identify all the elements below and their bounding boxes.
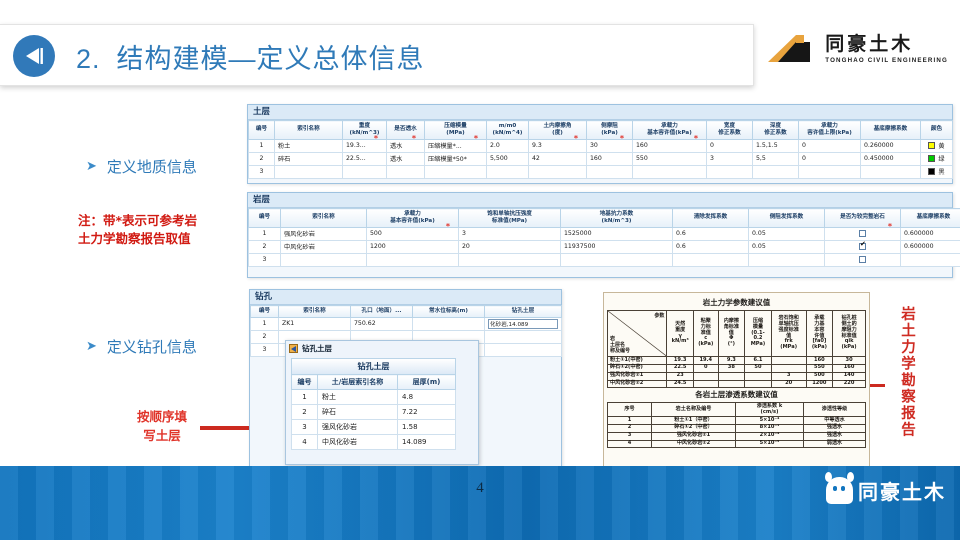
- table-row[interactable]: 1强风化砂岩500315250000.60.050.600000青: [249, 227, 960, 240]
- report-table1-body: 粉土①1(中密)19.319.49.36.116030碎石①2(中密)22.50…: [608, 357, 866, 388]
- report-soil-name: 强风化砂岩②1: [608, 372, 667, 380]
- column-header[interactable]: 钻孔土层: [485, 306, 562, 318]
- report-value: 6.1: [745, 357, 772, 365]
- table-cell[interactable]: 0.600000: [901, 227, 960, 240]
- table-cell[interactable]: [587, 165, 633, 178]
- table-cell[interactable]: 3: [292, 420, 318, 435]
- report-col-bearing-capacity: 承载力基本容许值[fa0](kPa): [806, 311, 833, 357]
- report-value: 弱透水: [804, 440, 866, 448]
- table-cell[interactable]: 粉土: [318, 390, 398, 405]
- rock-table-body[interactable]: 1强风化砂岩500315250000.60.050.600000青2中风化砂岩1…: [249, 227, 960, 266]
- table-cell[interactable]: 750.62: [351, 317, 413, 330]
- checkbox-cell[interactable]: [825, 240, 901, 253]
- table-cell[interactable]: 碎石: [318, 405, 398, 420]
- checkbox-cell[interactable]: [825, 253, 901, 266]
- report-value: 550: [806, 364, 833, 372]
- table-cell[interactable]: 550: [633, 152, 707, 165]
- report-row: 4中风化砂岩②25×10⁻⁵弱透水: [608, 440, 866, 448]
- back-triangle-icon[interactable]: [13, 35, 55, 77]
- soil-layer-table[interactable]: 编号索引名称重度(kN/m^3)*是否透水*压缩模量(MPa)*m/m0(kN/…: [248, 120, 953, 179]
- table-cell[interactable]: 1: [249, 139, 275, 152]
- column-header: 岩土名称及编号: [652, 403, 736, 417]
- table-row[interactable]: 2中风化砂岩120020119375000.60.050.600000蓝: [249, 240, 960, 253]
- color-label: 黑: [938, 169, 944, 176]
- annotation-fill-order: 按顺序填 写土层: [137, 408, 187, 446]
- table-cell[interactable]: [425, 165, 487, 178]
- table-cell[interactable]: 2: [292, 405, 318, 420]
- report-value: 22.5: [667, 364, 694, 372]
- brand-logo: 同豪土木 TONGHAO CIVIL ENGINEERING: [766, 32, 948, 68]
- color-cell[interactable]: 黑: [921, 165, 953, 178]
- column-header[interactable]: 宽度修正系数: [707, 121, 753, 140]
- tonghao-logo-icon: [766, 32, 818, 68]
- table-cell[interactable]: 碎石: [275, 152, 343, 165]
- required-star-icon: *: [446, 223, 450, 231]
- report-table1-corner-cell: 参数 岩土层名称及编号: [608, 311, 667, 357]
- brand-words: 同豪土木 TONGHAO CIVIL ENGINEERING: [825, 35, 948, 64]
- table-cell[interactable]: 2.0: [487, 139, 529, 152]
- report-value: 9.3: [718, 357, 745, 365]
- slide-footer: 4 同豪土木: [0, 466, 960, 540]
- column-header: 渗透性等级: [804, 403, 866, 417]
- report-value: 38: [718, 364, 745, 372]
- column-header[interactable]: 编号: [249, 209, 281, 228]
- report-value: 20: [771, 380, 806, 388]
- geotech-report-scan: 岩土力学参数建议值 参数 岩土层名称及编号 天然重度γkN/m³ 粘聚力标准值c…: [603, 292, 870, 476]
- note-line-1: 注：带*表示可参考岩: [78, 212, 197, 230]
- column-header: 渗透系数 k(cm/s): [736, 403, 804, 417]
- annotation-fill-order-line2: 写土层: [137, 427, 187, 446]
- note-star-meaning: 注：带*表示可参考岩 土力学勘察报告取值: [78, 212, 197, 248]
- footer-brand: 同豪土木: [826, 476, 946, 505]
- borehole-layer-table[interactable]: 钻孔土层 编号土/岩层索引名称层厚(m) 1粉土4.82碎石7.223强风化砂岩…: [291, 358, 456, 450]
- table-cell[interactable]: [673, 253, 749, 266]
- report-table2-body: 1粉土①1（中密）5×10⁻⁴中等透水2碎石①2（中密）8×10⁻¹强透水3强风…: [608, 417, 866, 448]
- column-header: 序号: [608, 403, 652, 417]
- report-value: 强风化砂岩②1: [652, 432, 736, 440]
- required-star-icon: *: [574, 135, 578, 143]
- intact-rock-checkbox[interactable]: [859, 230, 866, 237]
- wechat-ghost-icon: [826, 477, 853, 504]
- report-value: 160: [806, 357, 833, 365]
- table-cell[interactable]: [459, 253, 561, 266]
- soil-panel-title: 土层: [248, 105, 952, 120]
- column-header[interactable]: 编号: [251, 306, 279, 318]
- report-value: 160: [833, 364, 866, 372]
- report-corner-bottom-label: 岩土层名称及编号: [610, 336, 630, 354]
- report-value: 3: [608, 432, 652, 440]
- column-header[interactable]: 承载力基本容许值(kPa)*: [367, 209, 459, 228]
- report-col-friction-angle: 内摩擦角标准值Φ(°): [718, 311, 745, 357]
- borehole-table-header-row: 编号索引名称孔口（地面）...常水位标高(m)钻孔土层: [251, 306, 562, 318]
- table-cell[interactable]: 160: [587, 152, 633, 165]
- soil-table-body[interactable]: 1粉土19.3...透水压缩模量*...2.09.33016001.5,1.50…: [249, 139, 953, 178]
- column-header[interactable]: 承载力基本容许值(kPa)*: [633, 121, 707, 140]
- column-header[interactable]: 地基抗力系数(kN/m^3): [561, 209, 673, 228]
- table-cell[interactable]: [861, 165, 921, 178]
- column-header[interactable]: 索引名称: [281, 209, 367, 228]
- report-table2-header-row: 序号岩土名称及编号渗透系数 k(cm/s)渗透性等级: [608, 403, 866, 417]
- color-cell[interactable]: 黄: [921, 139, 953, 152]
- report-value: 19.4: [693, 357, 718, 365]
- report-col-unit-weight: 天然重度γkN/m³: [667, 311, 694, 357]
- table-cell[interactable]: 19.3...: [343, 139, 387, 152]
- report-col-cohesion: 粘聚力标准值c(kPa): [693, 311, 718, 357]
- column-header[interactable]: 承载力容许值上限(kPa): [799, 121, 861, 140]
- report-value: 3: [771, 372, 806, 380]
- table-cell[interactable]: 1.58: [398, 420, 456, 435]
- table-cell[interactable]: 强风化砂岩: [318, 420, 398, 435]
- table-cell[interactable]: 14.089: [398, 435, 456, 450]
- table-cell[interactable]: 500: [367, 227, 459, 240]
- column-header[interactable]: 孔口（地面）...: [351, 306, 413, 318]
- report-value: 0: [693, 364, 718, 372]
- table-cell[interactable]: [799, 165, 861, 178]
- borehole-layer-dialog[interactable]: 钻孔土层 钻孔土层 编号土/岩层索引名称层厚(m) 1粉土4.82碎石7.223…: [285, 340, 479, 465]
- report-soil-name: 中风化砂岩②2: [608, 380, 667, 388]
- report-table1-header-row: 参数 岩土层名称及编号 天然重度γkN/m³ 粘聚力标准值c(kPa) 内摩擦角…: [608, 311, 866, 357]
- table-cell[interactable]: 1.5,1.5: [753, 139, 799, 152]
- column-header[interactable]: 饱和单轴抗压强度标准值(MPa): [459, 209, 561, 228]
- required-star-icon: *: [374, 135, 378, 143]
- table-cell[interactable]: [561, 253, 673, 266]
- table-cell[interactable]: [749, 253, 825, 266]
- table-cell[interactable]: 1: [251, 317, 279, 330]
- table-cell[interactable]: 11937500: [561, 240, 673, 253]
- rock-panel-title: 岩层: [248, 193, 952, 208]
- table-cell[interactable]: [633, 165, 707, 178]
- table-cell[interactable]: 0.05: [749, 240, 825, 253]
- annotation-geo-report-label: 岩土力学勘察报告: [898, 306, 914, 438]
- note-line-2: 土力学勘察报告取值: [78, 230, 197, 248]
- table-cell[interactable]: 0.05: [749, 227, 825, 240]
- table-cell[interactable]: 42: [529, 152, 587, 165]
- column-header[interactable]: 基底摩擦系数: [861, 121, 921, 140]
- report-value: [771, 357, 806, 365]
- color-cell[interactable]: 绿: [921, 152, 953, 165]
- report-value: 2×10⁻⁴: [736, 432, 804, 440]
- table-cell[interactable]: 0.6: [673, 227, 749, 240]
- borehole-layer-header-row: 编号土/岩层索引名称层厚(m): [292, 375, 456, 390]
- report-value: [718, 380, 745, 388]
- color-swatch: [928, 142, 935, 149]
- column-header[interactable]: 压缩模量(MPa)*: [425, 121, 487, 140]
- bullet-define-geology: ➤ 定义地质信息: [86, 156, 197, 177]
- intact-rock-checkbox[interactable]: [859, 256, 866, 263]
- table-cell[interactable]: [387, 165, 425, 178]
- borehole-layer-table-wrap: 钻孔土层 编号土/岩层索引名称层厚(m) 1粉土4.82碎石7.223强风化砂岩…: [291, 358, 448, 450]
- rock-table-header-row: 编号索引名称承载力基本容许值(kPa)*饱和单轴抗压强度标准值(MPa)地基抗力…: [249, 209, 960, 228]
- column-header[interactable]: 基底摩擦系数: [901, 209, 960, 228]
- column-header[interactable]: 土/岩层索引名称: [318, 375, 398, 390]
- soil-table-header-row: 编号索引名称重度(kN/m^3)*是否透水*压缩模量(MPa)*m/m0(kN/…: [249, 121, 953, 140]
- report-value: [693, 380, 718, 388]
- column-header[interactable]: m/m0(kN/m^4): [487, 121, 529, 140]
- table-cell[interactable]: 2: [249, 240, 281, 253]
- table-cell[interactable]: 4: [292, 435, 318, 450]
- table-cell[interactable]: 3: [249, 253, 281, 266]
- page-number: 4: [0, 480, 960, 497]
- table-cell[interactable]: 3: [459, 227, 561, 240]
- column-header[interactable]: 土内摩擦角(度)*: [529, 121, 587, 140]
- color-swatch: [928, 168, 935, 175]
- report-col-compression-modulus: 压缩模量(0.1-0.2MPa): [745, 311, 772, 357]
- column-header[interactable]: 常水位标高(m): [413, 306, 485, 318]
- table-cell[interactable]: 1200: [367, 240, 459, 253]
- report-row: 中风化砂岩②224.5201200220: [608, 380, 866, 388]
- report-corner-top-label: 参数: [654, 314, 664, 320]
- soil-layer-panel[interactable]: 土层 编号索引名称重度(kN/m^3)*是否透水*压缩模量(MPa)*m/m0(…: [247, 104, 953, 184]
- report-col-pile-friction: 钻孔桩侧土的摩阻力标准值qik(kPa): [833, 311, 866, 357]
- column-header[interactable]: 是否透水*: [387, 121, 425, 140]
- table-row[interactable]: 1粉土19.3...透水压缩模量*...2.09.33016001.5,1.50…: [249, 139, 953, 152]
- report-value: 30: [833, 357, 866, 365]
- borehole-layer-table-caption: 钻孔土层: [291, 358, 456, 374]
- ghost-ear-right: [847, 472, 854, 482]
- table-row[interactable]: 3黑: [249, 165, 953, 178]
- table-cell[interactable]: 0: [707, 139, 753, 152]
- column-header[interactable]: 侧阻发挥系数: [749, 209, 825, 228]
- bullet-arrow-icon: ➤: [86, 339, 97, 354]
- list-item[interactable]: 3强风化砂岩1.58: [292, 420, 456, 435]
- list-item[interactable]: 4中风化砂岩14.089: [292, 435, 456, 450]
- list-item[interactable]: 1粉土4.8: [292, 390, 456, 405]
- column-header[interactable]: 索引名称: [275, 121, 343, 140]
- color-swatch: [928, 155, 935, 162]
- table-cell[interactable]: 2: [249, 152, 275, 165]
- report-value: 1200: [806, 380, 833, 388]
- list-item[interactable]: 2碎石7.22: [292, 405, 456, 420]
- report-value: 强透水: [804, 432, 866, 440]
- table-cell[interactable]: [707, 165, 753, 178]
- borehole-panel[interactable]: 钻孔 编号索引名称孔口（地面）...常水位标高(m)钻孔土层 1ZK1750.6…: [249, 289, 562, 474]
- report-value: 220: [833, 380, 866, 388]
- table-cell[interactable]: [275, 165, 343, 178]
- table-cell[interactable]: 30: [587, 139, 633, 152]
- report-row: 粉土①1(中密)19.319.49.36.116030: [608, 357, 866, 365]
- column-header[interactable]: 颜色: [921, 121, 953, 140]
- required-star-icon: *: [620, 135, 624, 143]
- borehole-panel-title: 钻孔: [250, 290, 561, 305]
- table-cell[interactable]: 0.260000: [861, 139, 921, 152]
- bullet-define-borehole-label: 定义钻孔信息: [107, 336, 197, 357]
- report-permeability-table: 序号岩土名称及编号渗透系数 k(cm/s)渗透性等级 1粉土①1（中密）5×10…: [607, 402, 866, 448]
- report-value: [745, 380, 772, 388]
- table-cell[interactable]: 0.600000: [901, 240, 960, 253]
- report-value: 140: [833, 372, 866, 380]
- table-cell[interactable]: 中风化砂岩: [318, 435, 398, 450]
- report-value: 5×10⁻⁵: [736, 440, 804, 448]
- column-header[interactable]: 是否为较完整岩石*: [825, 209, 901, 228]
- table-cell[interactable]: 0: [799, 139, 861, 152]
- page-title-number: 2.: [76, 44, 101, 74]
- table-cell[interactable]: 3: [707, 152, 753, 165]
- report-value: 23: [667, 372, 694, 380]
- column-header[interactable]: 索引名称: [279, 306, 351, 318]
- required-star-icon: *: [474, 135, 478, 143]
- table-cell[interactable]: [367, 253, 459, 266]
- table-cell[interactable]: 1: [249, 227, 281, 240]
- table-cell[interactable]: 透水: [387, 152, 425, 165]
- report-row: 强风化砂岩②1233500140: [608, 372, 866, 380]
- table-cell[interactable]: 22.5...: [343, 152, 387, 165]
- table-cell[interactable]: 1: [292, 390, 318, 405]
- table-cell[interactable]: [753, 165, 799, 178]
- color-label: 黄: [938, 143, 944, 150]
- table-cell[interactable]: 4.8: [398, 390, 456, 405]
- report-value: 50: [745, 364, 772, 372]
- page-title: 2.结构建模—定义总体信息: [76, 37, 425, 76]
- table-cell[interactable]: 0.450000: [861, 152, 921, 165]
- report-row: 3强风化砂岩②12×10⁻⁴强透水: [608, 432, 866, 440]
- brand-name-en: TONGHAO CIVIL ENGINEERING: [825, 58, 948, 64]
- report-value: [693, 372, 718, 380]
- table-cell[interactable]: 3: [251, 343, 279, 356]
- table-cell[interactable]: [413, 317, 485, 330]
- borehole-layers-editor[interactable]: 化砂岩,14.089: [488, 319, 558, 329]
- report-col-ucs: 岩石饱和单轴抗压强度标准值frk(MPa): [771, 311, 806, 357]
- rock-layer-panel[interactable]: 岩层 编号索引名称承载力基本容许值(kPa)*饱和单轴抗压强度标准值(MPa)地…: [247, 192, 953, 278]
- report-parameter-table: 参数 岩土层名称及编号 天然重度γkN/m³ 粘聚力标准值c(kPa) 内摩擦角…: [607, 310, 866, 388]
- page-title-label: 结构建模—定义总体信息: [117, 44, 425, 74]
- borehole-layer-body[interactable]: 1粉土4.82碎石7.223强风化砂岩1.584中风化砂岩14.089: [292, 390, 456, 450]
- rock-layer-table[interactable]: 编号索引名称承载力基本容许值(kPa)*饱和单轴抗压强度标准值(MPa)地基抗力…: [248, 208, 960, 267]
- borehole-layer-dialog-titlebar: 钻孔土层: [286, 341, 478, 355]
- table-cell[interactable]: 中风化砂岩: [281, 240, 367, 253]
- column-header[interactable]: 清除发挥系数: [673, 209, 749, 228]
- footer-brand-label: 同豪土木: [858, 476, 946, 505]
- borehole-layers-cell[interactable]: [485, 330, 562, 343]
- table-cell[interactable]: 5,500: [487, 152, 529, 165]
- table-cell[interactable]: 1525000: [561, 227, 673, 240]
- table-cell[interactable]: [901, 253, 960, 266]
- report-value: 24.5: [667, 380, 694, 388]
- report-value: 5×10⁻⁴: [736, 417, 804, 425]
- column-header[interactable]: 重度(kN/m^3)*: [343, 121, 387, 140]
- table-cell[interactable]: 0.6: [673, 240, 749, 253]
- table-cell[interactable]: [281, 253, 367, 266]
- bullet-define-geology-label: 定义地质信息: [107, 156, 197, 177]
- report-soil-name: 碎石①2(中密): [608, 364, 667, 372]
- table-cell[interactable]: 2: [251, 330, 279, 343]
- table-cell[interactable]: 粉土: [275, 139, 343, 152]
- table-cell[interactable]: 20: [459, 240, 561, 253]
- borehole-layer-dialog-title: 钻孔土层: [302, 343, 332, 354]
- bullet-arrow-icon: ➤: [86, 159, 97, 174]
- table-cell[interactable]: 3: [249, 165, 275, 178]
- table-row[interactable]: 1ZK1750.62化砂岩,14.089: [251, 317, 562, 330]
- report-value: 19.3: [667, 357, 694, 365]
- ghost-ear-left: [825, 472, 832, 482]
- report-value: 中风化砂岩②2: [652, 440, 736, 448]
- column-header[interactable]: 层厚(m): [398, 375, 456, 390]
- report-value: 4: [608, 440, 652, 448]
- report-value: 8×10⁻¹: [736, 424, 804, 432]
- required-star-icon: *: [412, 135, 416, 143]
- report-value: [745, 372, 772, 380]
- report-value: 1: [608, 417, 652, 425]
- column-header[interactable]: 侧摩阻(kPa)*: [587, 121, 633, 140]
- report-row: 碎石①2(中密)22.503850550160: [608, 364, 866, 372]
- table-cell[interactable]: 5,5: [753, 152, 799, 165]
- report-table1-title: 岩土力学参数建议值: [607, 296, 866, 310]
- table-cell[interactable]: 透水: [387, 139, 425, 152]
- table-cell[interactable]: 7.22: [398, 405, 456, 420]
- table-cell[interactable]: [529, 165, 587, 178]
- column-header[interactable]: 深度修正系数: [753, 121, 799, 140]
- table-cell[interactable]: [343, 165, 387, 178]
- brand-name-cn: 同豪土木: [825, 35, 948, 54]
- required-star-icon: *: [694, 135, 698, 143]
- required-star-icon: *: [888, 223, 892, 231]
- table-row[interactable]: 3黑: [249, 253, 960, 266]
- report-value: 500: [806, 372, 833, 380]
- borehole-layers-cell[interactable]: [485, 343, 562, 356]
- report-table2-title: 各岩土层渗透系数建议值: [607, 388, 866, 402]
- report-value: 2: [608, 424, 652, 432]
- column-header[interactable]: 编号: [249, 121, 275, 140]
- slide-title-bar: 2.结构建模—定义总体信息: [0, 24, 754, 86]
- report-value: [771, 364, 806, 372]
- column-header[interactable]: 编号: [292, 375, 318, 390]
- color-label: 绿: [938, 156, 944, 163]
- table-cell[interactable]: 强风化砂岩: [281, 227, 367, 240]
- table-cell[interactable]: [487, 165, 529, 178]
- intact-rock-checkbox[interactable]: [859, 243, 866, 250]
- table-cell[interactable]: ZK1: [279, 317, 351, 330]
- borehole-layers-cell[interactable]: 化砂岩,14.089: [485, 317, 562, 330]
- table-cell[interactable]: 压缩模量*50*: [425, 152, 487, 165]
- dialog-app-icon: [289, 344, 298, 353]
- table-row[interactable]: 2碎石22.5...透水压缩模量*50*5,5004216055035,500.…: [249, 152, 953, 165]
- table-cell[interactable]: 0: [799, 152, 861, 165]
- annotation-fill-order-line1: 按顺序填: [137, 408, 187, 427]
- report-value: [718, 372, 745, 380]
- slide-root: 2.结构建模—定义总体信息 同豪土木 TONGHAO CIVIL ENGINEE…: [0, 0, 960, 540]
- bullet-define-borehole: ➤ 定义钻孔信息: [86, 336, 197, 357]
